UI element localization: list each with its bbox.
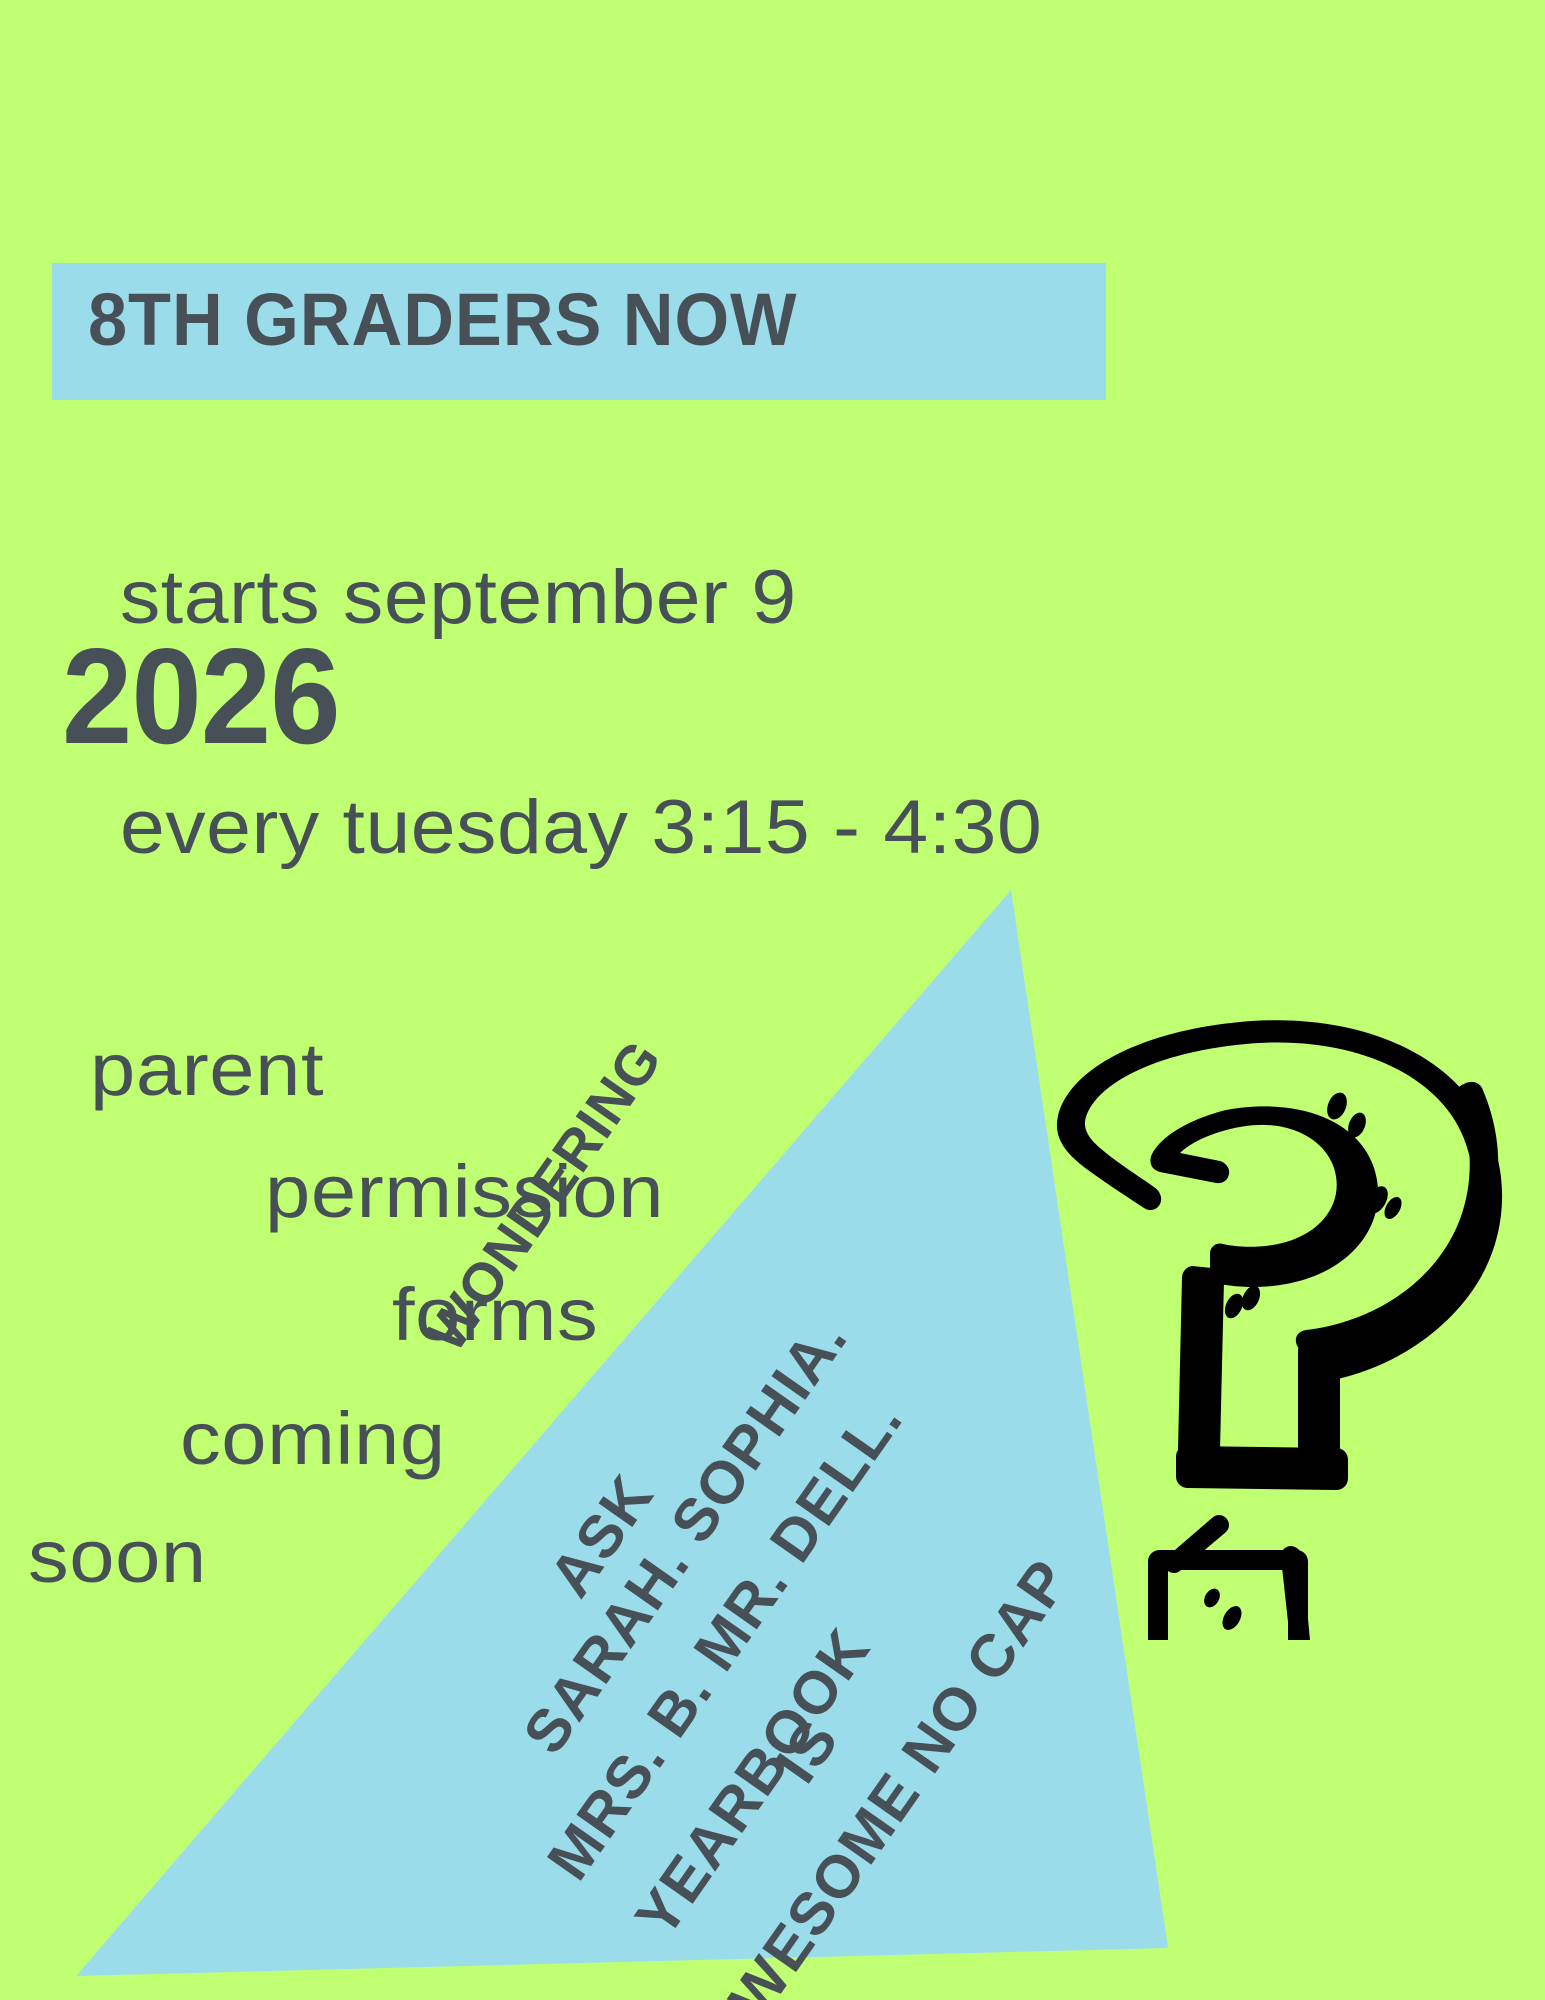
start-date-text: starts september 9 <box>120 560 797 636</box>
yearbook-poster: YEARBOOK 2026 8TH GRADERS NOW starts sep… <box>0 0 1545 2000</box>
forms-notice-line: parent <box>90 1033 324 1107</box>
question-mark-icon <box>1040 980 1510 1640</box>
forms-notice-line: coming <box>180 1402 446 1476</box>
forms-notice-line: permission <box>265 1155 664 1229</box>
headline-line-2: 2026 <box>62 634 992 759</box>
forms-notice-line: soon <box>28 1520 207 1594</box>
audience-banner-label: 8TH GRADERS NOW <box>88 283 797 357</box>
weekly-schedule-text: every tuesday 3:15 - 4:30 <box>120 790 1042 866</box>
